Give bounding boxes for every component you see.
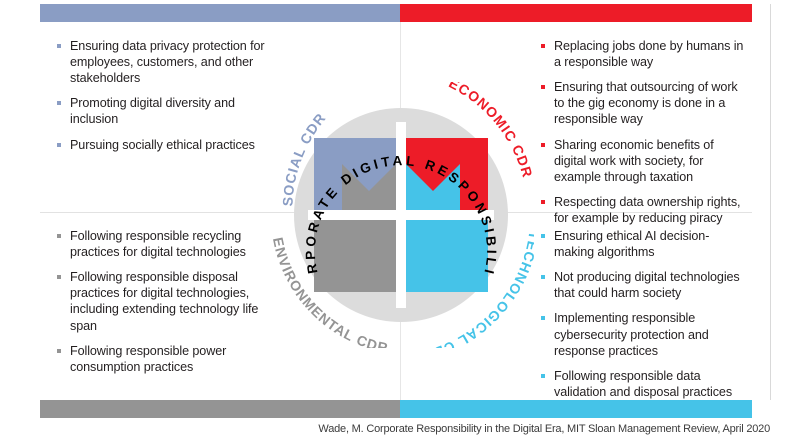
top-bar-economic <box>400 4 752 22</box>
list-item: Promoting digital diversity and inclusio… <box>56 95 271 127</box>
list-item: Sharing economic benefits of digital wor… <box>540 137 748 185</box>
list-item: Respecting data ownership rights, for ex… <box>540 194 748 226</box>
panel-economic-cdr: Replacing jobs done by humans in a respo… <box>540 38 748 226</box>
list-item: Following responsible data validation an… <box>540 368 748 400</box>
list-item: Following responsible disposal practices… <box>56 269 271 333</box>
cdr-circle-diagram: CORPORATE DIGITAL RESPONSIBILITY SOCIAL … <box>268 82 534 348</box>
bullet-list-economic: Replacing jobs done by humans in a respo… <box>540 38 748 226</box>
panel-environmental-cdr: Following responsible recycling practice… <box>56 228 271 375</box>
list-item: Implementing responsible cybersecurity p… <box>540 310 748 358</box>
panel-social-cdr: Ensuring data privacy protection for emp… <box>56 38 271 153</box>
list-item: Pursuing socially ethical practices <box>56 137 271 153</box>
bottom-bar-environmental <box>40 400 400 418</box>
quadrant-gap-horizontal <box>308 210 494 220</box>
list-item: Ensuring ethical AI decision-making algo… <box>540 228 748 260</box>
top-bar-social <box>40 4 400 22</box>
list-item: Following responsible recycling practice… <box>56 228 271 260</box>
source-citation: Wade, M. Corporate Responsibility in the… <box>40 423 770 435</box>
bullet-list-environmental: Following responsible recycling practice… <box>56 228 271 375</box>
list-item: Replacing jobs done by humans in a respo… <box>540 38 748 70</box>
list-item: Ensuring that outsourcing of work to the… <box>540 79 748 127</box>
panel-technological-cdr: Ensuring ethical AI decision-making algo… <box>540 228 748 400</box>
list-item: Ensuring data privacy protection for emp… <box>56 38 271 86</box>
bullet-list-social: Ensuring data privacy protection for emp… <box>56 38 271 153</box>
bullet-list-technological: Ensuring ethical AI decision-making algo… <box>540 228 748 400</box>
right-edge-line <box>770 4 771 400</box>
list-item: Following responsible power consumption … <box>56 343 271 375</box>
list-item: Not producing digital technologies that … <box>540 269 748 301</box>
bottom-bar-technological <box>400 400 752 418</box>
